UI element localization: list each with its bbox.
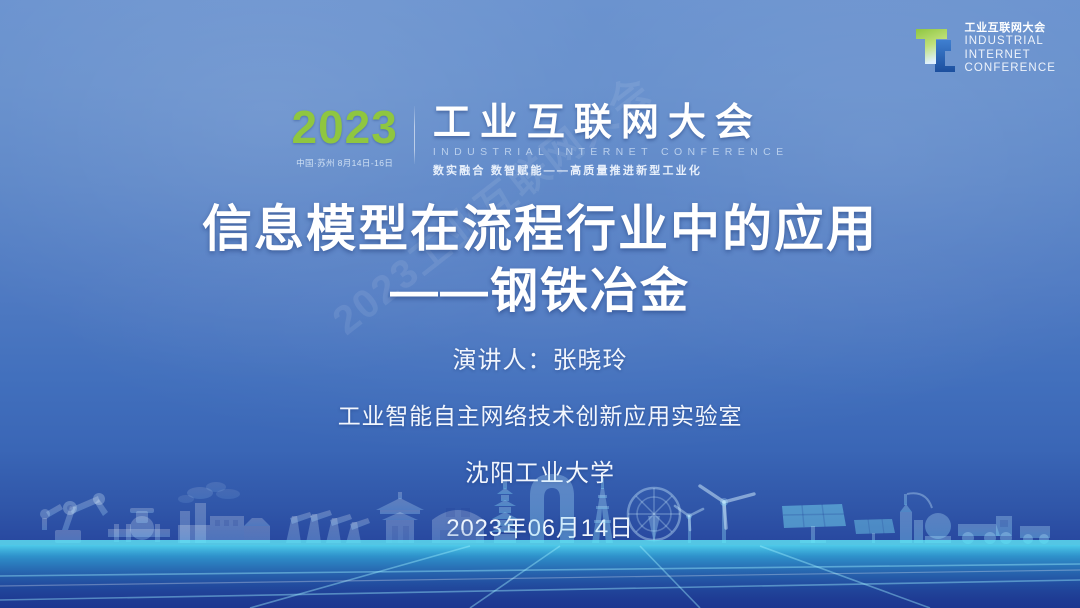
conference-en-title: INDUSTRIAL INTERNET CONFERENCE: [433, 146, 789, 158]
corner-conference-logo: 工业互联网大会 INDUSTRIAL INTERNET CONFERENCE: [911, 22, 1056, 76]
factory-smokestack-icon: [178, 482, 270, 543]
conference-logo-name-block: 工业互联网大会 INDUSTRIAL INTERNET CONFERENCE 数…: [415, 104, 789, 178]
presenter-lab: 工业智能自主网络技术创新应用实验室: [0, 397, 1080, 431]
horizon-line: [0, 540, 1080, 545]
presenter-name: 演讲人：张晓玲: [0, 340, 1080, 375]
corner-logo-text: 工业互联网大会 INDUSTRIAL INTERNET CONFERENCE: [964, 22, 1056, 76]
skyline-left-cluster: [40, 482, 484, 543]
robot-arm-icon: [40, 493, 108, 543]
ground-plane: [0, 545, 1080, 608]
conference-tagline: 数实融合 数智赋能——高质量推进新型工业化: [433, 162, 789, 178]
presentation-slide: 2023工业互联网大会 工业互联网大会 INDUSTRIAL INTERNET: [0, 0, 1080, 608]
conference-cn-title: 工业互联网大会: [433, 104, 789, 144]
wind-turbine-icon: [700, 486, 754, 543]
skyline-right-cluster: [490, 474, 1050, 544]
conference-logo-year-block: 2023 中国·苏州 8月14日-16日: [291, 104, 413, 178]
t-monogram-icon: [911, 26, 955, 72]
oil-pumpjack-icon: [286, 510, 370, 543]
pagoda-icon: [376, 492, 424, 543]
conference-place-date: 中国·苏州 8月14日-16日: [296, 157, 393, 169]
skyline-illustration: [0, 468, 1080, 608]
chemical-tank-icon: [900, 493, 951, 543]
lattice-tower-icon: [592, 478, 613, 543]
background-glow-left: [0, 0, 648, 395]
pipe-valve-icon: [108, 508, 170, 542]
corner-logo-en-line3: CONFERENCE: [964, 62, 1056, 76]
solar-panel-icon: [782, 504, 846, 543]
corner-logo-cn-name: 工业互联网大会: [964, 22, 1056, 35]
suzhou-pagoda-icon: [490, 481, 520, 543]
corner-logo-en-line2: INTERNET: [964, 49, 1056, 63]
page-subtitle: ——钢铁冶金: [0, 263, 1080, 321]
page-title: 信息模型在流程行业中的应用: [0, 200, 1080, 259]
main-conference-logo: 2023 中国·苏州 8月14日-16日 工业互联网大会 INDUSTRIAL …: [0, 104, 1080, 178]
mining-truck-icon: [958, 516, 1050, 544]
corner-logo-en-line1: INDUSTRIAL: [964, 35, 1056, 49]
industrial-hall-icon: [432, 508, 484, 543]
gate-of-the-orient-icon: [530, 474, 574, 543]
ferris-wheel-icon: [628, 488, 680, 543]
conference-year: 2023: [291, 106, 397, 150]
solar-panel-icon: [854, 519, 895, 543]
slide-title-block: 信息模型在流程行业中的应用 ——钢铁冶金: [0, 200, 1080, 321]
